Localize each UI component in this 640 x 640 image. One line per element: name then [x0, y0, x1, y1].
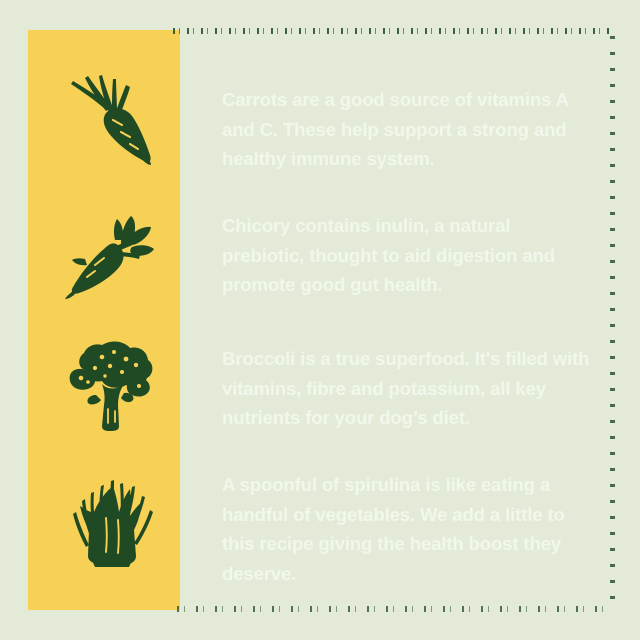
broccoli-icon	[58, 333, 162, 437]
benefit-text-chicory: Chicory contains inulin, a natural prebi…	[222, 211, 594, 300]
benefit-text-carrot: Carrots are a good source of vitamins A …	[222, 85, 594, 174]
benefit-paragraph: A spoonful of spirulina is like eating a…	[222, 470, 594, 588]
nutrition-benefits-poster: Carrots are a good source of vitamins A …	[0, 0, 640, 640]
spirulina-icon	[58, 468, 162, 572]
benefit-paragraph: Chicory contains inulin, a natural prebi…	[222, 211, 594, 300]
benefit-paragraph: Carrots are a good source of vitamins A …	[222, 85, 594, 174]
chicory-root-icon	[58, 200, 162, 304]
carrot-icon	[58, 68, 162, 172]
benefit-text-broccoli: Broccoli is a true superfood. It's fille…	[222, 344, 594, 433]
benefit-paragraph: Broccoli is a true superfood. It's fille…	[222, 344, 594, 433]
benefit-text-spirulina: A spoonful of spirulina is like eating a…	[222, 470, 594, 588]
